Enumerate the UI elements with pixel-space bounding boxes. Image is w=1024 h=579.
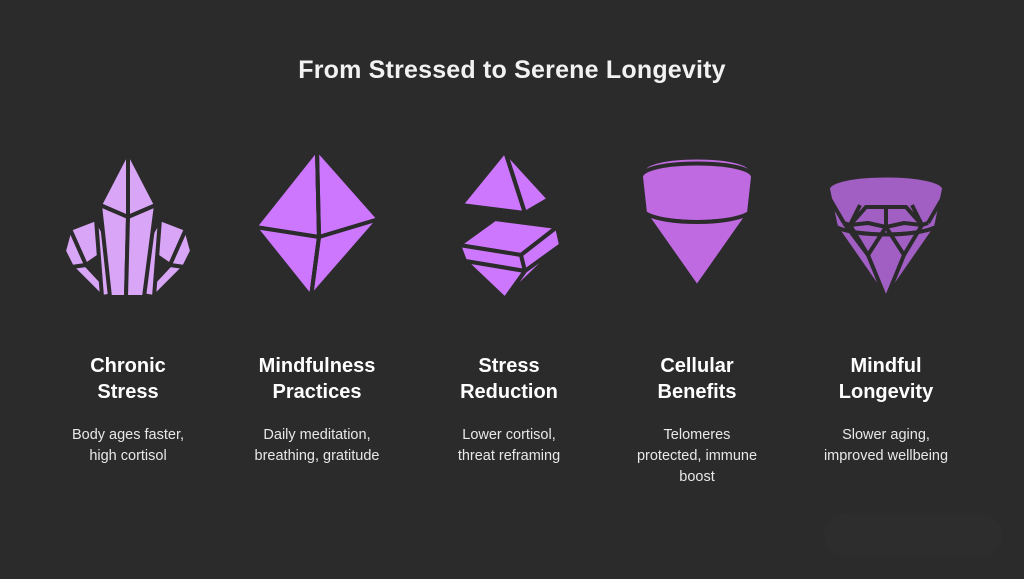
split-gem-icon bbox=[429, 140, 589, 305]
step-column-2: Mindfulness Practices Daily meditation, … bbox=[219, 140, 415, 467]
octahedron-gem-icon bbox=[237, 140, 397, 305]
round-brilliant-gem-icon bbox=[617, 126, 777, 291]
step-labels-4: Cellular Benefits Telomeres protected, i… bbox=[599, 353, 795, 488]
step-title: Cellular Benefits bbox=[599, 353, 795, 405]
step-description: Lower cortisol, threat reframing bbox=[411, 425, 607, 467]
step-labels-5: Mindful Longevity Slower aging, improved… bbox=[788, 353, 984, 467]
slide-canvas: From Stressed to Serene Longevity bbox=[0, 0, 1024, 579]
step-column-4: Cellular Benefits Telomeres protected, i… bbox=[599, 126, 795, 488]
step-description: Telomeres protected, immune boost bbox=[599, 425, 795, 488]
page-title: From Stressed to Serene Longevity bbox=[0, 56, 1024, 85]
step-title: Chronic Stress bbox=[30, 353, 226, 405]
step-description: Body ages faster, high cortisol bbox=[30, 425, 226, 467]
step-labels-3: Stress Reduction Lower cortisol, threat … bbox=[411, 353, 607, 467]
step-column-1: Chronic Stress Body ages faster, high co… bbox=[30, 140, 226, 467]
step-title: Stress Reduction bbox=[411, 353, 607, 405]
step-title: Mindfulness Practices bbox=[219, 353, 415, 405]
step-column-3: Stress Reduction Lower cortisol, threat … bbox=[411, 140, 607, 467]
step-description: Daily meditation, breathing, gratitude bbox=[219, 425, 415, 467]
step-labels-1: Chronic Stress Body ages faster, high co… bbox=[30, 353, 226, 467]
step-labels-2: Mindfulness Practices Daily meditation, … bbox=[219, 353, 415, 467]
step-title: Mindful Longevity bbox=[788, 353, 984, 405]
watermark bbox=[824, 513, 1002, 557]
step-column-5: Mindful Longevity Slower aging, improved… bbox=[788, 140, 984, 467]
crystal-cluster-icon bbox=[48, 140, 208, 305]
step-description: Slower aging, improved wellbeing bbox=[788, 425, 984, 467]
faceted-diamond-icon bbox=[806, 140, 966, 305]
